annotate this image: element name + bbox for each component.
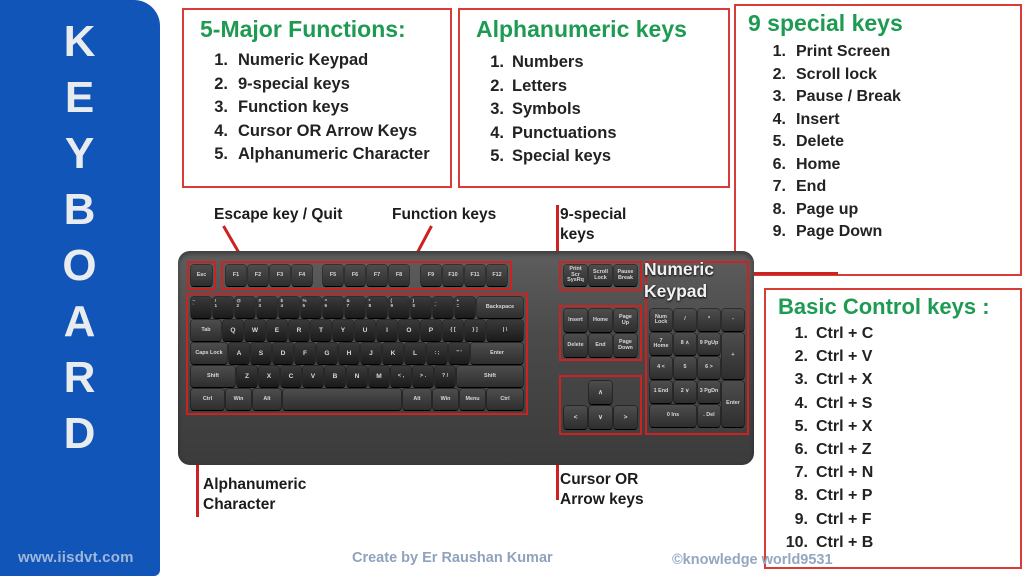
item-text: Ctrl + P [816, 484, 1020, 507]
title-letter: Y [65, 126, 95, 182]
basic-control-keys-list: 1.Ctrl + C 2.Ctrl + V 3.Ctrl + X 4.Ctrl … [774, 322, 1020, 554]
title-letter: A [64, 294, 97, 350]
list-item: 2.Ctrl + V [774, 345, 1020, 368]
basic-control-keys-title: Basic Control keys : [778, 294, 1020, 320]
list-item: 9.Ctrl + F [774, 508, 1020, 531]
item-number: 4. [470, 122, 504, 146]
item-text: Insert [796, 109, 1020, 132]
item-text: Ctrl + Z [816, 438, 1020, 461]
major-functions-list: 1.Numeric Keypad 2.9-special keys 3.Func… [194, 49, 450, 167]
title-letter: E [65, 70, 95, 126]
list-item: 3.Pause / Break [746, 86, 1020, 109]
item-text: Page Down [796, 221, 1020, 244]
nine-special-keys-box: 9 special keys 1.Print Screen 2.Scroll l… [734, 4, 1022, 276]
list-item: 8.Page up [746, 199, 1020, 222]
alphanumeric-keys-title: Alphanumeric keys [476, 16, 728, 43]
highlight-escape-key [187, 261, 216, 290]
title-letter: K [64, 14, 97, 70]
item-text: Ctrl + F [816, 508, 1020, 531]
list-item: 9.Page Down [746, 221, 1020, 244]
list-item: 5.Special keys [470, 145, 728, 169]
item-number: 9. [746, 221, 786, 244]
item-number: 8. [746, 199, 786, 222]
item-text: Ctrl + X [816, 368, 1020, 391]
item-text: Numbers [512, 51, 728, 75]
list-item: 3.Symbols [470, 98, 728, 122]
title-letter: B [64, 182, 97, 238]
title-letter: O [62, 238, 97, 294]
item-number: 7. [746, 176, 786, 199]
highlight-alphanumeric [186, 293, 528, 415]
list-item: 4.Punctuations [470, 122, 728, 146]
list-item: 6.Ctrl + Z [774, 438, 1020, 461]
callout-alphanumeric-character: Alphanumeric Character [203, 475, 353, 515]
list-item: 3.Function keys [194, 96, 450, 120]
item-text: Ctrl + X [816, 415, 1020, 438]
keyboard-vertical-title: K E Y B O A R D [0, 14, 160, 462]
item-text: Punctuations [512, 122, 728, 146]
list-item: 5.Alphanumeric Character [194, 143, 450, 167]
item-number: 2. [746, 64, 786, 87]
item-number: 3. [470, 98, 504, 122]
callout-function-keys: Function keys [392, 205, 496, 225]
highlight-cursor-keys [559, 375, 642, 435]
nine-special-keys-list: 1.Print Screen 2.Scroll lock 3.Pause / B… [746, 41, 1020, 244]
item-number: 6. [746, 154, 786, 177]
item-number: 3. [194, 96, 228, 120]
callout-nine-special-keys: 9-special keys [560, 205, 644, 245]
item-text: Ctrl + B [816, 531, 1020, 554]
item-number: 5. [194, 143, 228, 167]
list-item: 8.Ctrl + P [774, 484, 1020, 507]
item-text: End [796, 176, 1020, 199]
list-item: 2.9-special keys [194, 73, 450, 97]
nine-special-keys-title: 9 special keys [748, 10, 1020, 37]
list-item: 1.Numeric Keypad [194, 49, 450, 73]
highlight-function-keys [221, 261, 512, 290]
item-number: 1. [774, 322, 808, 345]
sidebar-title-bar: K E Y B O A R D [0, 0, 160, 576]
leader-line-numpad [746, 272, 838, 275]
item-number: 2. [194, 73, 228, 97]
item-text: Ctrl + N [816, 461, 1020, 484]
list-item: 2.Letters [470, 75, 728, 99]
leader-line-alphanumeric [196, 465, 199, 517]
list-item: 4.Insert [746, 109, 1020, 132]
item-text: Print Screen [796, 41, 1020, 64]
list-item: 7.Ctrl + N [774, 461, 1020, 484]
item-text: Page up [796, 199, 1020, 222]
item-number: 4. [774, 392, 808, 415]
item-number: 1. [746, 41, 786, 64]
item-text: Ctrl + V [816, 345, 1020, 368]
item-text: Ctrl + S [816, 392, 1020, 415]
item-number: 10. [774, 531, 808, 554]
list-item: 5.Ctrl + X [774, 415, 1020, 438]
footer-credit: Create by Er Raushan Kumar [352, 550, 553, 566]
item-number: 5. [470, 145, 504, 169]
list-item: 4.Cursor OR Arrow Keys [194, 120, 450, 144]
item-number: 5. [774, 415, 808, 438]
title-letter: D [64, 406, 97, 462]
item-text: Alphanumeric Character [238, 143, 450, 167]
item-number: 1. [470, 51, 504, 75]
footer-copyright: ©knowledge world9531 [672, 552, 833, 568]
list-item: 1.Ctrl + C [774, 322, 1020, 345]
item-text: Ctrl + C [816, 322, 1020, 345]
website-url: www.iisdvt.com [18, 549, 134, 566]
item-text: 9-special keys [238, 73, 450, 97]
item-text: Numeric Keypad [238, 49, 450, 73]
alphanumeric-keys-box: Alphanumeric keys 1.Numbers 2.Letters 3.… [458, 8, 730, 188]
item-number: 5. [746, 131, 786, 154]
callout-escape-key: Escape key / Quit [214, 205, 342, 225]
item-number: 4. [194, 120, 228, 144]
list-item: 4.Ctrl + S [774, 392, 1020, 415]
numeric-keypad-label: Numeric Keypad [644, 258, 748, 302]
item-text: Pause / Break [796, 86, 1020, 109]
list-item: 1.Print Screen [746, 41, 1020, 64]
item-number: 1. [194, 49, 228, 73]
item-number: 3. [746, 86, 786, 109]
list-item: 5.Delete [746, 131, 1020, 154]
list-item: 3.Ctrl + X [774, 368, 1020, 391]
list-item: 1.Numbers [470, 51, 728, 75]
item-text: Cursor OR Arrow Keys [238, 120, 450, 144]
list-item: 7.End [746, 176, 1020, 199]
title-letter: R [64, 350, 97, 406]
item-text: Function keys [238, 96, 450, 120]
item-number: 9. [774, 508, 808, 531]
item-text: Scroll lock [796, 64, 1020, 87]
item-number: 4. [746, 109, 786, 132]
item-number: 2. [470, 75, 504, 99]
item-text: Symbols [512, 98, 728, 122]
item-text: Letters [512, 75, 728, 99]
alphanumeric-keys-list: 1.Numbers 2.Letters 3.Symbols 4.Punctuat… [470, 51, 728, 169]
highlight-nine-special [559, 261, 642, 291]
callout-cursor-arrow-keys: Cursor OR Arrow keys [560, 470, 680, 510]
item-text: Special keys [512, 145, 728, 169]
highlight-nine-special-nav [559, 305, 642, 361]
item-text: Home [796, 154, 1020, 177]
item-number: 3. [774, 368, 808, 391]
item-number: 8. [774, 484, 808, 507]
item-text: Delete [796, 131, 1020, 154]
major-functions-title: 5-Major Functions: [200, 16, 450, 43]
list-item: 6.Home [746, 154, 1020, 177]
list-item: 10.Ctrl + B [774, 531, 1020, 554]
item-number: 2. [774, 345, 808, 368]
item-number: 6. [774, 438, 808, 461]
basic-control-keys-box: Basic Control keys : 1.Ctrl + C 2.Ctrl +… [764, 288, 1022, 569]
list-item: 2.Scroll lock [746, 64, 1020, 87]
major-functions-box: 5-Major Functions: 1.Numeric Keypad 2.9-… [182, 8, 452, 188]
item-number: 7. [774, 461, 808, 484]
